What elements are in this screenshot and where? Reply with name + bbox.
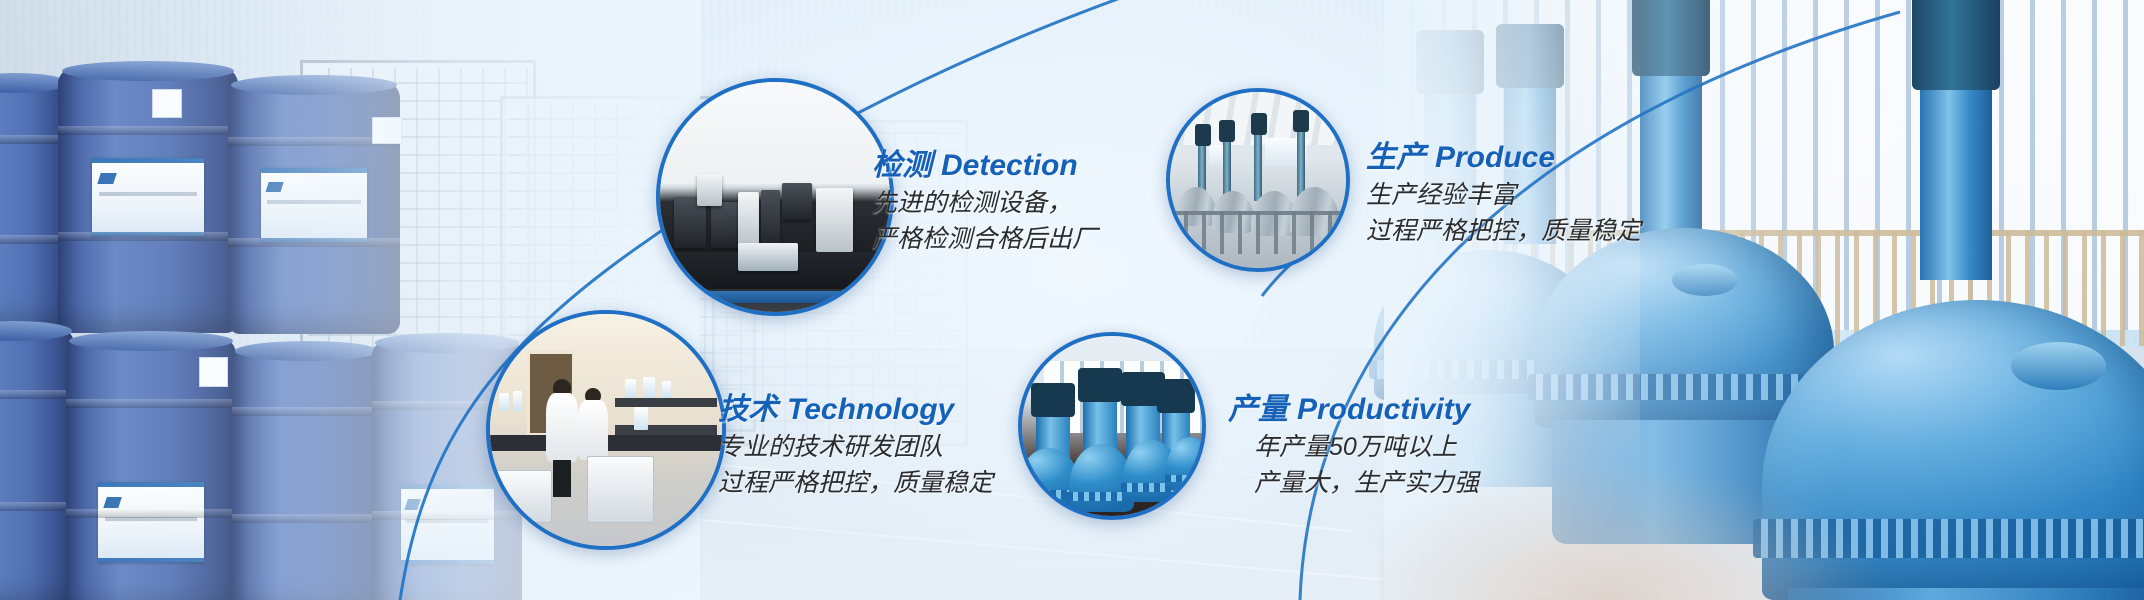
technician-lab-coat <box>578 400 608 460</box>
technology-line-1: 专业的技术研发团队 <box>718 429 993 466</box>
connector-arc-upper <box>1300 12 1900 600</box>
productivity-photo[interactable] <box>1018 332 1206 520</box>
productivity-line-2: 产量大，生产实力强 <box>1228 465 1479 502</box>
technician-lab-coat <box>546 393 578 463</box>
produce-title-en: Produce <box>1426 141 1555 174</box>
feature-text-technology: 技术Technology 专业的技术研发团队 过程严格把控，质量稳定 <box>718 392 993 502</box>
feature-text-detection: 检测Detection 先进的检测设备， 严格检测合格后出厂 <box>872 148 1097 258</box>
technology-photo[interactable] <box>486 310 726 550</box>
detection-line-2: 严格检测合格后出厂 <box>872 221 1097 258</box>
technology-title: 技术Technology <box>718 392 993 429</box>
detection-title-cn: 检测 <box>872 149 932 182</box>
detection-photo-image <box>660 82 890 312</box>
technology-title-cn: 技术 <box>718 393 778 426</box>
detection-title-en: Detection <box>932 149 1078 182</box>
productivity-photo-image <box>1022 336 1202 516</box>
detection-line-1: 先进的检测设备， <box>872 185 1097 222</box>
technology-line-2: 过程严格把控，质量稳定 <box>718 465 993 502</box>
technology-title-en: Technology <box>778 393 954 426</box>
productivity-line-1: 年产量50万吨以上 <box>1228 429 1479 466</box>
detection-title: 检测Detection <box>872 148 1097 185</box>
produce-line-2: 过程严格把控，质量稳定 <box>1366 213 1641 250</box>
productivity-title: 产量Productivity <box>1228 392 1479 429</box>
produce-line-1: 生产经验丰富 <box>1366 177 1641 214</box>
detection-photo[interactable] <box>656 78 894 316</box>
productivity-title-cn: 产量 <box>1228 393 1288 426</box>
feature-text-produce: 生产Produce 生产经验丰富 过程严格把控，质量稳定 <box>1366 140 1641 250</box>
produce-photo[interactable] <box>1166 88 1350 272</box>
produce-photo-image <box>1170 92 1346 268</box>
productivity-title-en: Productivity <box>1288 393 1470 426</box>
feature-text-productivity: 产量Productivity 年产量50万吨以上 产量大，生产实力强 <box>1228 392 1479 502</box>
produce-title-cn: 生产 <box>1366 141 1426 174</box>
produce-title: 生产Produce <box>1366 140 1641 177</box>
technology-photo-image <box>490 314 722 546</box>
company-strength-banner: 检测Detection 先进的检测设备， 严格检测合格后出厂 生产Produce… <box>0 0 2144 600</box>
